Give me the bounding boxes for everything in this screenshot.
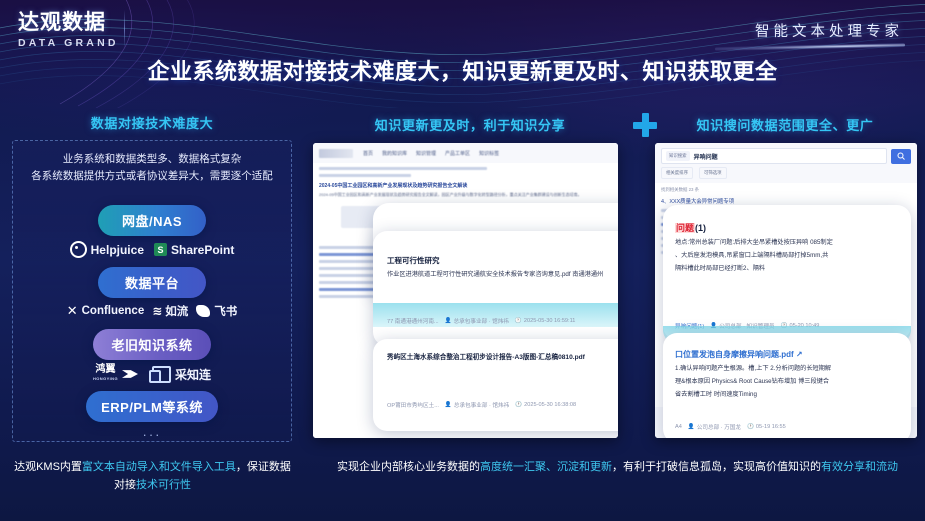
brand-feishu: 飞书 — [196, 303, 237, 319]
result-title: 4、XXX质量大会异常问题专项 — [661, 197, 911, 205]
left-systems-panel: 业务系统和数据类型多、数据格式复杂 各系统数据提供方式或者协议差异大，需要逐个适… — [12, 140, 292, 442]
brand-helpjuice: Helpjuice — [70, 241, 144, 258]
result-count: 找到相关数据 23 条 — [661, 187, 911, 193]
brand-row-legacy: 鸿翼 HONGYING 采知连 — [13, 365, 291, 383]
sharepoint-icon: S — [154, 243, 167, 256]
header-band — [0, 0, 925, 104]
placeholder-line — [319, 167, 487, 170]
rcard2-line2: 理&根本原因 Physics& Root Cause钻布增加 博三段键合 — [675, 377, 911, 387]
column-heading-right: 知识搜问数据范围更全、更广 — [655, 115, 915, 134]
card1-dept: 总承包事业部 · 馆炜祎 — [454, 317, 509, 325]
caption-left-hl1: 富文本自动导入和文件导入工具 — [82, 461, 236, 473]
brand-caizhilian: 采知连 — [152, 366, 211, 383]
brand-helpjuice-label: Helpjuice — [91, 243, 144, 257]
brand-feishu-label: 飞书 — [214, 303, 237, 319]
middle-app-logo — [319, 149, 353, 158]
rcard1-title: 问题(1) — [675, 221, 911, 234]
rcard2-title: 口位置发泡自身摩擦异响问题.pdf ↗ — [675, 349, 911, 360]
brand-ruliu-label: 如流 — [165, 303, 188, 319]
rcard2-meta: A4 👤 公司总部 · 万国龙 🕐 05-19 16:55 — [675, 423, 786, 431]
rcard2-author: 👤 公司总部 · 万国龙 — [688, 423, 741, 431]
search-bar[interactable]: 知识搜索 异响问题 — [655, 143, 917, 167]
hongyi-icon: 鸿翼 HONGYING — [93, 365, 118, 383]
caizhilian-icon — [152, 366, 171, 383]
brand-sharepoint-label: SharePoint — [171, 243, 234, 257]
person-icon: 👤 — [445, 402, 452, 408]
nav-item-home[interactable]: 首页 — [363, 150, 373, 157]
logo-divider — [124, 10, 125, 48]
rcard2-time: 🕐 05-19 16:55 — [747, 424, 786, 430]
left-panel-description: 业务系统和数据类型多、数据格式复杂 各系统数据提供方式或者协议差异大，需要逐个适… — [23, 151, 281, 185]
left-panel-ellipsis: ··· — [13, 427, 291, 442]
caption-right: 实现企业内部核心业务数据的高度统一汇聚、沉淀和更新，有利于打破信息孤岛，实现高价… — [320, 458, 915, 476]
person-icon: 👤 — [688, 424, 695, 430]
nav-item-tags[interactable]: 知识标签 — [479, 150, 499, 157]
middle-result-card-1[interactable]: 工程可行性研究 作业区进港航道工程可行性研究通航安全技术报告专家咨询意见.pdf… — [373, 231, 618, 346]
middle-app-toolbar: 首页 我的知识库 知识管理 产品工单区 知识标签 — [313, 143, 618, 164]
card2-author: 👤 总承包事业部 · 馆炜祎 — [445, 401, 509, 409]
placeholder-line — [319, 174, 411, 177]
pill-erp-plm[interactable]: ERP/PLM等系统 — [86, 391, 218, 422]
search-input[interactable]: 知识搜索 异响问题 — [661, 148, 887, 164]
rcard1-line3: 隔料槽此时局部已经打断2、隔料 — [675, 264, 911, 274]
card2-time-value: 2025-05-30 16:38:08 — [524, 402, 576, 408]
page-title: 企业系统数据对接技术难度大，知识更新更及时、知识获取更全 — [0, 54, 925, 86]
rcard2-tag: A4 — [675, 424, 682, 430]
card1-time: 🕐 2025-05-30 16:59:11 — [515, 318, 576, 324]
nav-item-ticket-area[interactable]: 产品工单区 — [445, 150, 470, 157]
person-icon: 👤 — [445, 318, 452, 324]
caption-right-part2: ，有利于打破信息孤岛，实现高价值知识的 — [612, 461, 821, 473]
right-screenshot[interactable]: 知识搜索 异响问题 相关度排序 可筛选项 找到相关数据 23 条 4、XXX质量… — [655, 143, 917, 438]
arrow-icon — [122, 368, 138, 380]
brand-row-data-platform: ✕ Confluence ≋ 如流 飞书 — [13, 303, 291, 319]
brand-row-netdisk: Helpjuice S SharePoint — [13, 241, 291, 258]
nav-item-knowledge-mgmt[interactable]: 知识管理 — [416, 150, 436, 157]
middle-result-card-2[interactable]: 秀屿区土海水系综合整治工程初步设计报告-A3版图-汇总稿0810.pdf OP莆… — [373, 339, 618, 431]
search-input-value: 异响问题 — [694, 152, 718, 161]
plus-icon — [633, 113, 657, 137]
filter-relevance[interactable]: 相关度排序 — [661, 167, 693, 179]
brand-hongyi: 鸿翼 HONGYING — [93, 365, 138, 383]
search-icon[interactable] — [891, 149, 911, 164]
caption-left: 达观KMS内置富文本自动导入和文件导入工具，保证数据对接技术可行性 — [10, 458, 295, 494]
rcard2-dept: 公司总部 · 万国龙 — [697, 423, 741, 431]
rcard1-line1-text: 地点:常州总装厂问题:后排大坐吊紧槽处按压异响 085制定 — [675, 239, 833, 246]
rcard2-line1: 1.确认异响问题产生根源。槽,上下 2.分析问题的长短期解 — [675, 364, 911, 374]
rcard1-line2: 、大后座发泡模具,吊紧窗口上端隔料槽局部打掉5mm,共 — [675, 251, 911, 261]
rcard2-title-text: 口位置发泡自身摩擦异响问题.pdf — [675, 350, 794, 359]
helpjuice-icon — [70, 241, 87, 258]
header-tagline: 智能文本处理专家 — [755, 20, 903, 41]
rcard1-title-highlight: 问题 — [675, 223, 695, 233]
card2-dept: 总承包事业部 · 馆炜祎 — [454, 401, 509, 409]
card2-title: 秀屿区土海水系综合整治工程初步设计报告-A3版图-汇总稿0810.pdf — [387, 353, 618, 363]
card1-author: 👤 总承包事业部 · 馆炜祎 — [445, 317, 509, 325]
middle-doc-paragraph: 2024-05中国工业园区和高新产业发展现状及趋势研究报告全文解读，园区产业升级… — [319, 192, 612, 198]
right-result-card-1[interactable]: 问题(1) 地点:常州总装厂问题:后排大坐吊紧槽处按压异响 085制定 、大后座… — [663, 205, 911, 340]
middle-app-nav[interactable]: 首页 我的知识库 知识管理 产品工单区 知识标签 — [363, 150, 499, 157]
brand-ruliu: ≋ 如流 — [152, 303, 188, 319]
nav-item-my-kb[interactable]: 我的知识库 — [382, 150, 407, 157]
brand-sharepoint: S SharePoint — [154, 243, 234, 257]
column-heading-left: 数据对接技术难度大 — [12, 113, 292, 132]
pill-legacy-knowledge-system[interactable]: 老旧知识系统 — [93, 329, 211, 360]
middle-doc-heading: 2024-05中国工业园区和高新产业发展现状及趋势研究报告全文解读 — [319, 182, 612, 189]
caption-right-hl2: 有效分享和流动 — [821, 461, 898, 473]
rcard2-line3: 省去割槽工时 时间速度Timing — [675, 390, 911, 400]
left-desc-line-2: 各系统数据提供方式或者协议差异大，需要逐个适配 — [23, 168, 281, 185]
caption-left-hl2: 技术可行性 — [136, 479, 191, 491]
card2-meta: OP莆田市秀屿区土... 👤 总承包事业部 · 馆炜祎 🕐 2025-05-30… — [387, 401, 576, 409]
clock-icon: 🕐 — [515, 402, 522, 408]
feishu-icon — [196, 305, 210, 317]
brand-logo: 达观数据 DATA GRAND — [18, 12, 128, 49]
brand-caizhilian-label: 采知连 — [175, 366, 211, 383]
filter-more[interactable]: 可筛选项 — [699, 167, 727, 179]
card2-time: 🕐 2025-05-30 16:38:08 — [515, 402, 576, 408]
pill-netdisk-nas[interactable]: 网盘/NAS — [98, 205, 206, 236]
card1-source: 77 南通港通州河南... — [387, 317, 439, 325]
card2-source: OP莆田市秀屿区土... — [387, 401, 439, 409]
brand-logo-en: DATA GRAND — [18, 37, 128, 49]
clock-icon: 🕐 — [515, 318, 522, 324]
brand-hongyi-sub: HONGYING — [93, 374, 118, 383]
card1-meta: 77 南通港通州河南... 👤 总承包事业部 · 馆炜祎 🕐 2025-05-3… — [387, 317, 575, 325]
ruliu-icon: ≋ — [152, 304, 161, 318]
left-desc-line-1: 业务系统和数据类型多、数据格式复杂 — [23, 151, 281, 168]
middle-screenshot[interactable]: 首页 我的知识库 知识管理 产品工单区 知识标签 2024-05中国工业园区和高… — [313, 143, 618, 438]
caption-left-part1: 达观KMS内置 — [14, 461, 82, 473]
rcard1-line1: 地点:常州总装厂问题:后排大坐吊紧槽处按压异响 085制定 — [675, 238, 911, 248]
card1-title: 工程可行性研究 — [387, 255, 618, 266]
card1-line: 作业区进港航道工程可行性研究通航安全技术报告专家咨询意见.pdf 南通港通州 — [387, 270, 618, 280]
rcard2-time-value: 05-19 16:55 — [756, 424, 786, 430]
external-link-icon[interactable]: ↗ — [796, 350, 803, 359]
pill-data-platform[interactable]: 数据平台 — [98, 267, 206, 298]
brand-confluence: ✕ Confluence — [67, 303, 145, 319]
caption-right-part1: 实现企业内部核心业务数据的 — [337, 461, 480, 473]
confluence-icon: ✕ — [67, 303, 78, 319]
clock-icon: 🕐 — [747, 424, 754, 430]
brand-logo-cn: 达观数据 — [18, 12, 128, 34]
search-scope-select[interactable]: 知识搜索 — [666, 151, 690, 161]
rcard1-title-suffix: (1) — [695, 223, 706, 233]
right-result-card-2[interactable]: 口位置发泡自身摩擦异响问题.pdf ↗ 1.确认异响问题产生根源。槽,上下 2.… — [663, 333, 911, 438]
slide-root: 达观数据 DATA GRAND 智能文本处理专家 企业系统数据对接技术难度大，知… — [0, 0, 925, 521]
card1-time-value: 2025-05-30 16:59:11 — [524, 318, 576, 324]
caption-right-hl1: 高度统一汇聚、沉淀和更新 — [480, 461, 612, 473]
filter-row[interactable]: 相关度排序 可筛选项 — [655, 167, 917, 183]
brand-confluence-label: Confluence — [82, 305, 145, 317]
column-heading-middle: 知识更新更及时，利于知识分享 — [315, 115, 625, 134]
